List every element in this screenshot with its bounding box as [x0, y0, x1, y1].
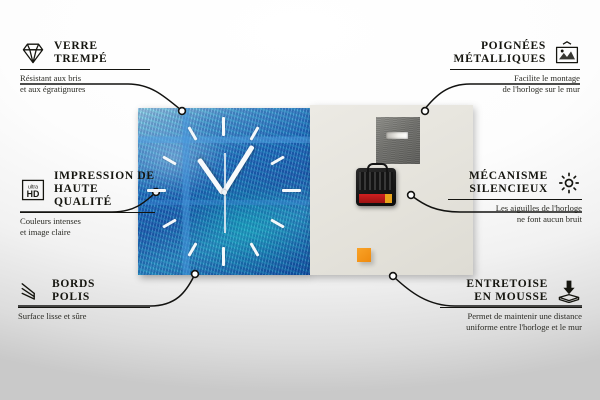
clock-tick: [162, 218, 176, 228]
clock-center-pivot: [222, 190, 227, 195]
callout-impression-haute-qualite: ultra HD IMPRESSION DE HAUTE QUALITÉ Cou…: [20, 170, 155, 238]
callout-title: MÉCANISME SILENCIEUX: [469, 170, 548, 196]
callout-rule: [450, 69, 580, 70]
picture-frame-hanger-icon: [554, 41, 580, 65]
infographic-canvas: VERRE TREMPÉ Résistant aux bris et aux é…: [0, 0, 600, 400]
callout-subtitle: Les aiguilles de l'horloge ne font aucun…: [448, 203, 582, 224]
polished-edges-icon: [18, 279, 44, 303]
arrow-down-onto-pad-icon: [556, 279, 582, 303]
clock-tick: [270, 218, 284, 228]
silent-movement-box: [356, 168, 396, 206]
clock-tick: [187, 242, 197, 256]
callout-title: VERRE TREMPÉ: [54, 40, 107, 66]
callout-subtitle: Couleurs intenses et image claire: [20, 216, 155, 237]
metal-hanger-plate: [376, 117, 420, 164]
callout-bords-polis: BORDS POLIS Surface lisse et sûre: [18, 278, 150, 322]
clock-tick: [270, 155, 284, 165]
callout-subtitle: Surface lisse et sûre: [18, 311, 150, 322]
callout-subtitle: Permet de maintenir une distance uniform…: [440, 311, 582, 332]
battery-plus-terminal: [385, 194, 392, 203]
callout-title: BORDS POLIS: [52, 278, 95, 304]
clock-tick: [162, 155, 176, 165]
clock-minute-hand: [221, 145, 255, 195]
diamond-icon: [20, 41, 46, 65]
callout-rule: [18, 307, 150, 308]
callout-subtitle: Résistant aux bris et aux égratignures: [20, 73, 150, 94]
foam-spacer: [357, 248, 371, 262]
gear-icon: [556, 171, 582, 195]
callout-subtitle: Facilite le montage de l'horloge sur le …: [450, 73, 580, 94]
callout-title: POIGNÉES MÉTALLIQUES: [454, 40, 546, 66]
clock-tick: [187, 126, 197, 140]
callout-rule: [20, 69, 150, 70]
ultra-hd-icon: ultra HD: [20, 178, 46, 202]
clock-tick: [249, 242, 259, 256]
callout-entretoise-en-mousse: ENTRETOISE EN MOUSSE Permet de maintenir…: [440, 278, 582, 333]
callout-mecanisme-silencieux: MÉCANISME SILENCIEUX Les aiguilles de l'…: [448, 170, 582, 225]
callout-rule: [440, 307, 582, 308]
svg-text:HD: HD: [27, 189, 40, 199]
clock-tick: [282, 189, 301, 192]
clock-hour-hand: [197, 158, 225, 195]
clock-face: [138, 108, 310, 275]
clock-tick: [147, 189, 166, 192]
clock-tick: [222, 117, 225, 136]
clock-tick: [249, 126, 259, 140]
clock-tick: [222, 247, 225, 266]
hanger-keyhole-slot: [386, 132, 408, 139]
callout-rule: [20, 212, 155, 213]
callout-poignees-metalliques: POIGNÉES MÉTALLIQUES Facilite le montage…: [450, 40, 580, 95]
callout-title: IMPRESSION DE HAUTE QUALITÉ: [54, 170, 155, 209]
callout-verre-trempe: VERRE TREMPÉ Résistant aux bris et aux é…: [20, 40, 150, 95]
callout-title: ENTRETOISE EN MOUSSE: [466, 278, 548, 304]
callout-rule: [448, 199, 582, 200]
clock-product-photo: [138, 105, 473, 275]
movement-grille: [359, 172, 393, 190]
